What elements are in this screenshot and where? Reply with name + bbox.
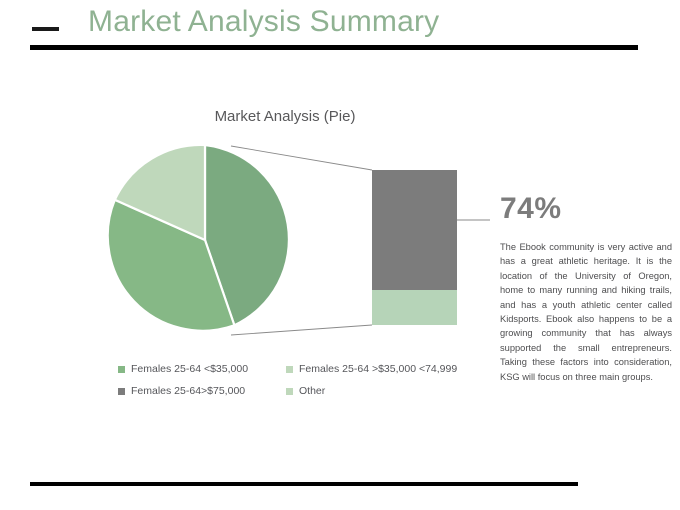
title-dash-icon [32, 27, 59, 31]
header-divider [30, 45, 638, 50]
callout-percentage: 74% [500, 192, 562, 226]
pie-chart-figure [100, 135, 490, 350]
legend-swatch-icon [118, 366, 125, 373]
callout-bar-segment-top [372, 170, 457, 290]
legend-item-label: Other [299, 385, 325, 397]
leader-line-bottom [231, 325, 372, 335]
chart-legend: Females 25-64 <$35,000 Females 25-64 >$3… [118, 363, 468, 405]
legend-item[interactable]: Females 25-64>$75,000 [118, 385, 245, 397]
callout-description: The Ebook community is very active and h… [500, 240, 672, 384]
legend-item[interactable]: Other [286, 385, 325, 397]
legend-item-label: Females 25-64 >$35,000 <74,999 [299, 363, 457, 375]
legend-swatch-icon [286, 366, 293, 373]
slide-canvas: Market Analysis Summary Market Analysis … [0, 0, 680, 510]
legend-swatch-icon [118, 388, 125, 395]
chart-svg [100, 135, 490, 350]
legend-item[interactable]: Females 25-64 >$35,000 <74,999 [286, 363, 457, 375]
legend-item-label: Females 25-64 <$35,000 [131, 363, 248, 375]
chart-title: Market Analysis (Pie) [120, 108, 450, 125]
legend-item[interactable]: Females 25-64 <$35,000 [118, 363, 248, 375]
legend-swatch-icon [286, 388, 293, 395]
page-title: Market Analysis Summary [88, 0, 648, 44]
callout-bar-segment-bottom [372, 290, 457, 325]
footer-divider [30, 482, 578, 486]
legend-item-label: Females 25-64>$75,000 [131, 385, 245, 397]
